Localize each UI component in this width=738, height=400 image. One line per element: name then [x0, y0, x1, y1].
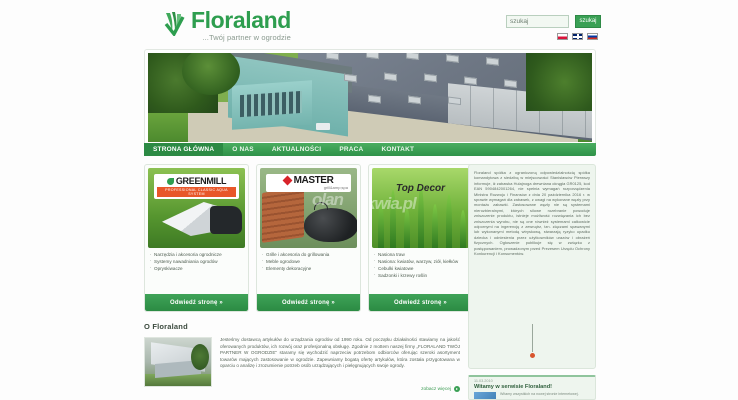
- nav-item-aktualnosci[interactable]: AKTUALNOŚCI: [263, 143, 331, 156]
- greenmill-bullets: Narzędzia i akcesoria ogrodnicze Systemy…: [145, 248, 248, 294]
- news-date: 11.03.2010: [474, 379, 590, 383]
- consumer-notice-text: Floraland spółka z ograniczoną odpowiedz…: [474, 170, 590, 257]
- flag-russia-icon[interactable]: [587, 33, 598, 40]
- master-product-image: olan MASTER grill&amp;spa: [260, 168, 357, 248]
- master-diamond-icon: [282, 176, 292, 186]
- nav-item-o-nas[interactable]: O NAS: [223, 143, 263, 156]
- about-title: O Floraland: [144, 322, 460, 331]
- topdecor-brand-name: Top Decor: [396, 183, 445, 194]
- news-snippet: Witamy wszystkich na nowej stronie inter…: [500, 392, 579, 400]
- about-paragraph: Jesteśmy dostawcą artykułów do urządzani…: [220, 337, 460, 387]
- master-visit-button[interactable]: Odwiedź stronę »: [257, 294, 360, 311]
- brand-card-topdecor[interactable]: kwia.pl Top Decor Nasiona traw Nasiona: …: [368, 164, 473, 312]
- greenmill-visit-button[interactable]: Odwiedź stronę »: [145, 294, 248, 311]
- search-button[interactable]: szukaj: [575, 15, 601, 28]
- list-item: Opryskiwacze: [150, 266, 243, 272]
- nav-item-kontakt[interactable]: KONTAKT: [372, 143, 423, 156]
- master-bullets: Grille i akcesoria do grillowania Meble …: [257, 248, 360, 294]
- leaf-icon: [163, 10, 189, 36]
- arrow-circle-icon: [454, 386, 460, 392]
- brand-card-master[interactable]: olan MASTER grill&amp;spa Grille i akces…: [256, 164, 361, 312]
- nav-item-strona-glowna[interactable]: STRONA GŁÓWNA: [144, 143, 223, 156]
- search-input[interactable]: [506, 15, 569, 28]
- about-section: O Floraland Jesteśmy dostawcą artykułów …: [144, 322, 460, 387]
- topdecor-brand-plate: Top Decor: [380, 178, 461, 196]
- nav-item-praca[interactable]: PRACA: [330, 143, 372, 156]
- logo-tagline: ...Twój partner w ogrodzie: [191, 33, 291, 42]
- list-item: Meble ogrodowe: [262, 259, 355, 265]
- thermometer-icon: [531, 324, 534, 358]
- news-thumbnail: [474, 392, 496, 400]
- topdecor-visit-button[interactable]: Odwiedź stronę »: [369, 294, 472, 311]
- brand-cards: GREENMILL PROFESSIONAL CLASSIC AQUA SYST…: [144, 164, 473, 312]
- about-more-label: zobacz więcej: [421, 387, 451, 392]
- logo-wordmark: Floraland: [191, 8, 291, 32]
- topdecor-product-image: kwia.pl Top Decor: [372, 168, 469, 248]
- greenmill-leaf-icon: [167, 178, 174, 185]
- main-navigation: STRONA GŁÓWNA O NAS AKTUALNOŚCI PRACA KO…: [144, 143, 596, 156]
- list-item: Nasiona traw: [374, 252, 467, 258]
- flag-uk-icon[interactable]: [572, 33, 583, 40]
- list-item: Nasiona: kwiatów, warzyw, ziół, kiełków: [374, 259, 467, 265]
- language-switcher: [557, 33, 598, 40]
- list-item: Narzędzia i akcesoria ogrodnicze: [150, 252, 243, 258]
- flag-poland-icon[interactable]: [557, 33, 568, 40]
- news-title: Witamy w serwisie Floraland!: [474, 384, 590, 390]
- sidebar-notice-panel: Floraland spółka z ograniczoną odpowiedz…: [468, 164, 596, 369]
- greenmill-brand-sub: PROFESSIONAL CLASSIC AQUA SYSTEM: [157, 187, 236, 197]
- about-thumbnail: [144, 337, 212, 387]
- hero-image: [148, 53, 592, 142]
- search-bar: szukaj: [506, 15, 601, 28]
- page-root: Floraland ...Twój partner w ogrodzie szu…: [0, 0, 738, 400]
- list-item: Cebulki kwiatowe: [374, 266, 467, 272]
- topdecor-bullets: Nasiona traw Nasiona: kwiatów, warzyw, z…: [369, 248, 472, 294]
- list-item: Sadzonki i krzewy roślin: [374, 273, 467, 279]
- about-more-link[interactable]: zobacz więcej: [421, 386, 460, 392]
- greenmill-product-image: GREENMILL PROFESSIONAL CLASSIC AQUA SYST…: [148, 168, 245, 248]
- news-panel[interactable]: 11.03.2010 Witamy w serwisie Floraland! …: [468, 375, 596, 400]
- list-item: Elementy dekoracyjne: [262, 266, 355, 272]
- site-header: Floraland ...Twój partner w ogrodzie szu…: [0, 0, 738, 46]
- greenmill-brand-plate: GREENMILL PROFESSIONAL CLASSIC AQUA SYST…: [154, 174, 239, 199]
- list-item: Systemy nawadniania ogrodów: [150, 259, 243, 265]
- hero-banner: [144, 49, 596, 156]
- site-logo[interactable]: Floraland ...Twój partner w ogrodzie: [163, 8, 291, 42]
- greenmill-brand-name: GREENMILL: [176, 176, 226, 186]
- master-brand-plate: MASTER grill&amp;spa: [266, 174, 351, 192]
- brand-card-greenmill[interactable]: GREENMILL PROFESSIONAL CLASSIC AQUA SYST…: [144, 164, 249, 312]
- list-item: Grille i akcesoria do grillowania: [262, 252, 355, 258]
- topdecor-watermark: kwia.pl: [372, 194, 416, 214]
- master-watermark: olan: [312, 190, 343, 210]
